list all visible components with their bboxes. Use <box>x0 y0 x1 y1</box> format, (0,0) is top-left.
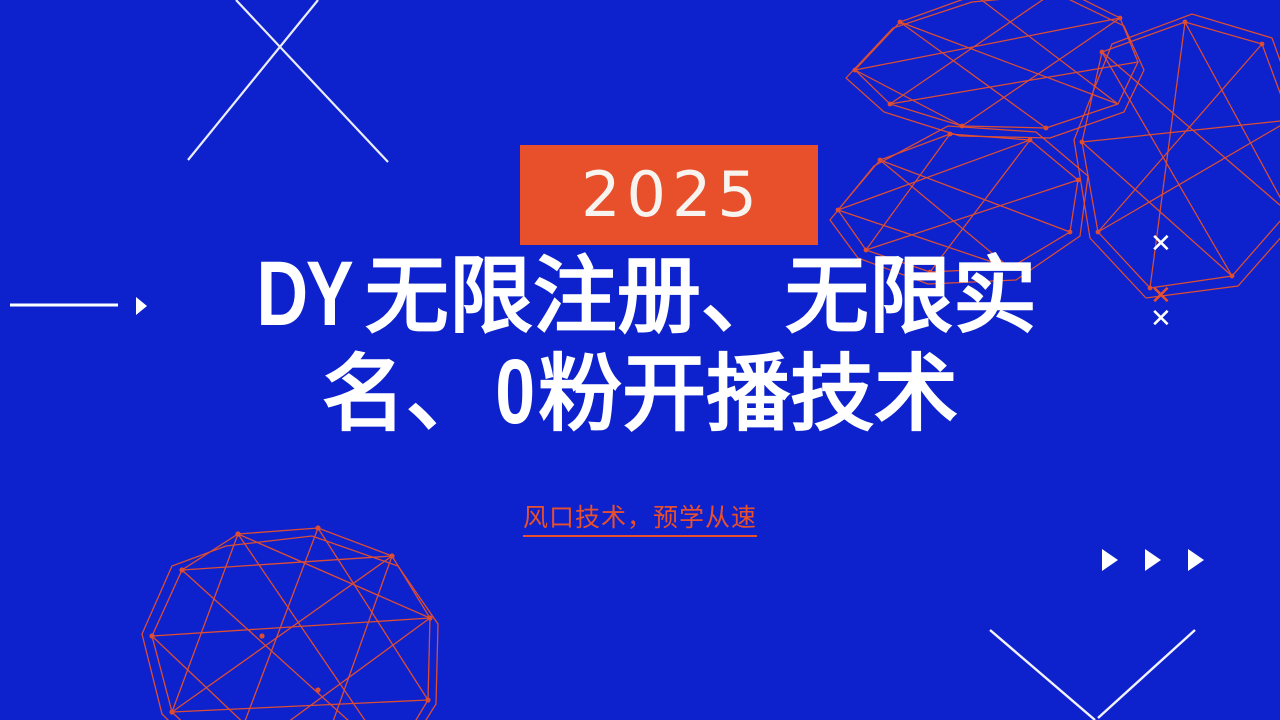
wireframe-blob-top <box>846 0 1144 138</box>
arrow-triangle-1-icon <box>1102 549 1118 571</box>
large-x-cross-top-left <box>188 0 388 162</box>
subtitle-text: 风口技术，预学从速 <box>523 504 757 537</box>
headline-brand-dy: DY <box>256 246 351 344</box>
headline-line-2: 名、0粉开播技术 <box>0 344 1280 442</box>
headline-pointer-triangle <box>136 297 147 315</box>
headline-line-1: DY无限注册、无限实 <box>0 246 1280 344</box>
headline-line-2-text: 粉开播技术 <box>538 347 958 441</box>
headline-line-2-prefix: 名、 <box>322 347 490 441</box>
x-marker-top-icon: ✕ <box>1150 231 1172 257</box>
wireframe-sphere-bottom-left <box>142 525 438 720</box>
headline-line-1-text: 无限注册、无限实 <box>365 249 1037 343</box>
slide-canvas: 2025 DY无限注册、无限实 名、0粉开播技术 风口技术，预学从速 ✕ ✕ ✕ <box>0 0 1280 720</box>
chevron-bottom-right <box>990 630 1195 720</box>
x-marker-bottom-icon: ✕ <box>1150 306 1172 332</box>
year-badge-text: 2025 <box>575 164 763 226</box>
subtitle: 风口技术，预学从速 <box>0 498 1280 534</box>
year-badge: 2025 <box>520 145 818 245</box>
headline-zero-digit: 0 <box>495 344 533 442</box>
headline: DY无限注册、无限实 名、0粉开播技术 <box>0 246 1280 441</box>
arrow-triangle-3-icon <box>1188 549 1204 571</box>
arrow-triangle-2-icon <box>1145 549 1161 571</box>
